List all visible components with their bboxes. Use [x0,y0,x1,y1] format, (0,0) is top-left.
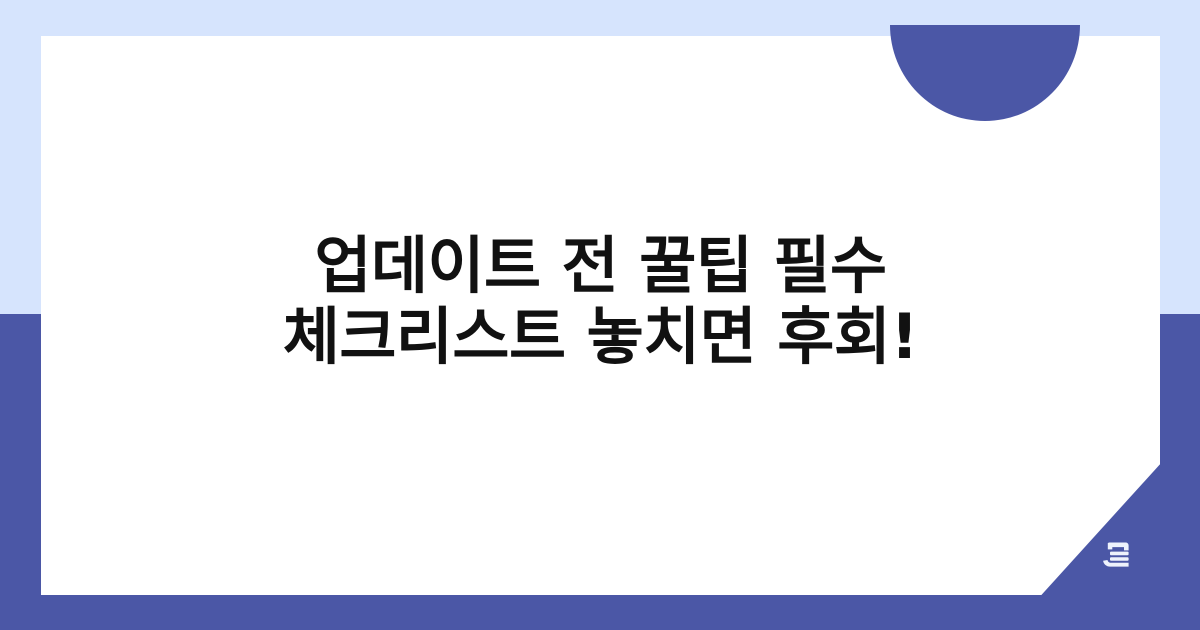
rieul-logo-icon [1096,532,1140,576]
poster-canvas: 업데이트 전 꿀팁 필수 체크리스트 놓치면 후회! [0,0,1200,630]
